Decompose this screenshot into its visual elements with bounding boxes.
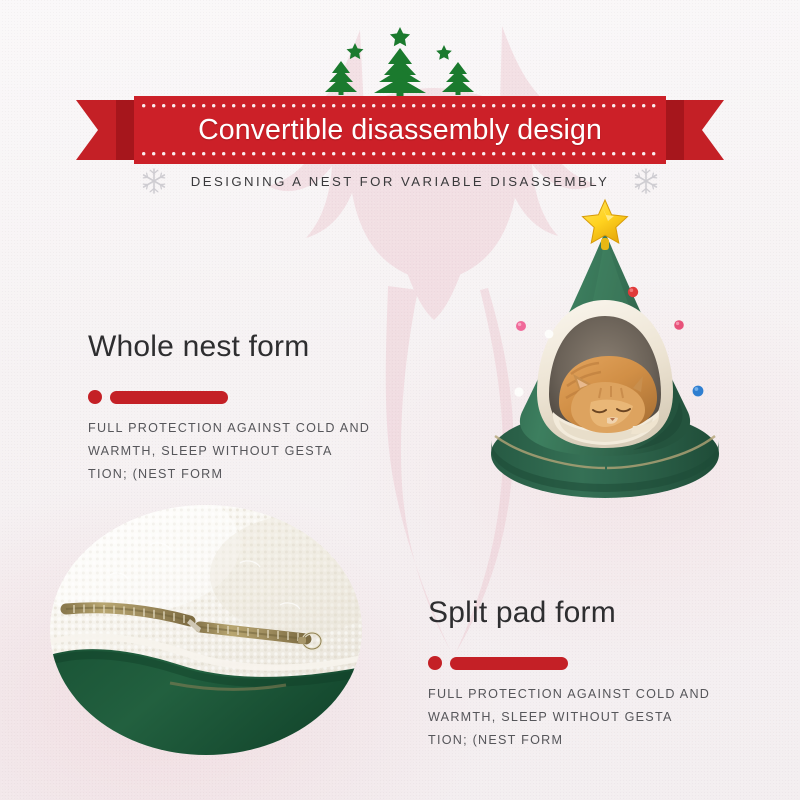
section-heading: Split pad form: [428, 596, 768, 630]
divider-bar: [450, 657, 568, 670]
section-body-line: TION; (NEST FORM: [88, 463, 428, 486]
section-divider: [88, 390, 428, 404]
section-whole-nest-form: Whole nest form FULL PROTECTION AGAINST …: [88, 330, 428, 486]
divider-dot: [88, 390, 102, 404]
section-body-line: WARMTH, SLEEP WITHOUT GESTA: [88, 440, 428, 463]
section-body-line: WARMTH, SLEEP WITHOUT GESTA: [428, 706, 768, 729]
section-body-line: FULL PROTECTION AGAINST COLD AND: [428, 683, 768, 706]
section-divider: [428, 656, 768, 670]
christmas-trees-icon: [307, 26, 493, 98]
subtitle-row: DESIGNING A NEST FOR VARIABLE DISASSEMBL…: [0, 166, 800, 196]
banner-container: Convertible disassembly design: [0, 96, 800, 164]
christmas-tree-pet-bed-photo: [455, 196, 755, 516]
zipper-detail-photo: [50, 505, 362, 755]
banner-subtitle: DESIGNING A NEST FOR VARIABLE DISASSEMBL…: [191, 174, 610, 189]
snowflake-icon: [139, 166, 169, 196]
section-heading: Whole nest form: [88, 330, 428, 364]
section-body-line: TION; (NEST FORM: [428, 729, 768, 752]
section-body: FULL PROTECTION AGAINST COLD AND WARMTH,…: [88, 417, 428, 486]
ribbon-banner: Convertible disassembly design: [76, 96, 724, 164]
christmas-trees-decoration: [0, 26, 800, 98]
banner-title: Convertible disassembly design: [76, 96, 724, 164]
divider-dot: [428, 656, 442, 670]
divider-bar: [110, 391, 228, 404]
section-body-line: FULL PROTECTION AGAINST COLD AND: [88, 417, 428, 440]
snowflake-icon: [631, 166, 661, 196]
product-infographic-page: Convertible disassembly design DESIGNING…: [0, 0, 800, 800]
section-body: FULL PROTECTION AGAINST COLD AND WARMTH,…: [428, 683, 768, 752]
section-split-pad-form: Split pad form FULL PROTECTION AGAINST C…: [428, 596, 768, 752]
